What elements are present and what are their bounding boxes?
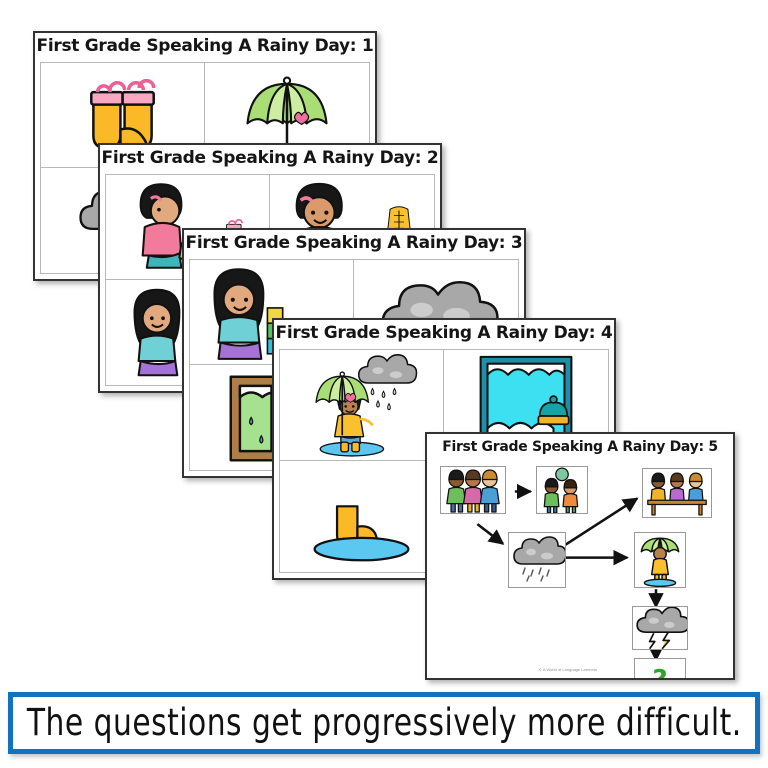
- thunder-cloud-icon: [633, 607, 687, 649]
- child-with-umbrella-node[interactable]: [634, 532, 686, 588]
- caption-text: The questions get progressively more dif…: [27, 701, 742, 745]
- card-5-copyright: © A World of Language Learners: [539, 667, 597, 672]
- children-playing-ball-node[interactable]: [536, 466, 588, 514]
- children-at-table-node[interactable]: [642, 468, 712, 518]
- kids-ball-icon: [537, 467, 587, 513]
- child-umbrella-rain-icon: [280, 350, 443, 460]
- kids-table-icon: [643, 469, 711, 517]
- thunder-cloud-node[interactable]: [632, 606, 688, 650]
- card-4-title: First Grade Speaking A Rainy Day: 4: [274, 325, 614, 345]
- child-umbrella-icon: [635, 533, 685, 587]
- puddle-icon: [280, 461, 443, 572]
- rain-cloud-icon: [509, 533, 565, 587]
- caption-banner: The questions get progressively more dif…: [8, 692, 760, 754]
- rain-cloud-node[interactable]: [508, 532, 566, 588]
- card-2-title: First Grade Speaking A Rainy Day: 2: [100, 150, 440, 170]
- children-standing-node[interactable]: [440, 466, 506, 514]
- worksheet-card-5[interactable]: First Grade Speaking A Rainy Day: 5: [425, 432, 735, 680]
- question-mark-node[interactable]: ?: [634, 658, 686, 680]
- child-with-umbrella-in-rain-picture[interactable]: [280, 350, 444, 461]
- question-mark-label: ?: [652, 667, 667, 680]
- card-1-title: First Grade Speaking A Rainy Day: 1: [35, 38, 375, 58]
- three-kids-icon: [441, 467, 505, 513]
- card-5-title: First Grade Speaking A Rainy Day: 5: [427, 440, 733, 458]
- boots-in-puddle-picture[interactable]: [280, 461, 444, 572]
- slide-canvas: First Grade Speaking A Rainy Day: 1: [0, 0, 768, 768]
- sequence-flow-chart: ?: [432, 462, 728, 673]
- card-5-body: ?: [432, 462, 728, 673]
- card-3-title: First Grade Speaking A Rainy Day: 3: [184, 235, 524, 255]
